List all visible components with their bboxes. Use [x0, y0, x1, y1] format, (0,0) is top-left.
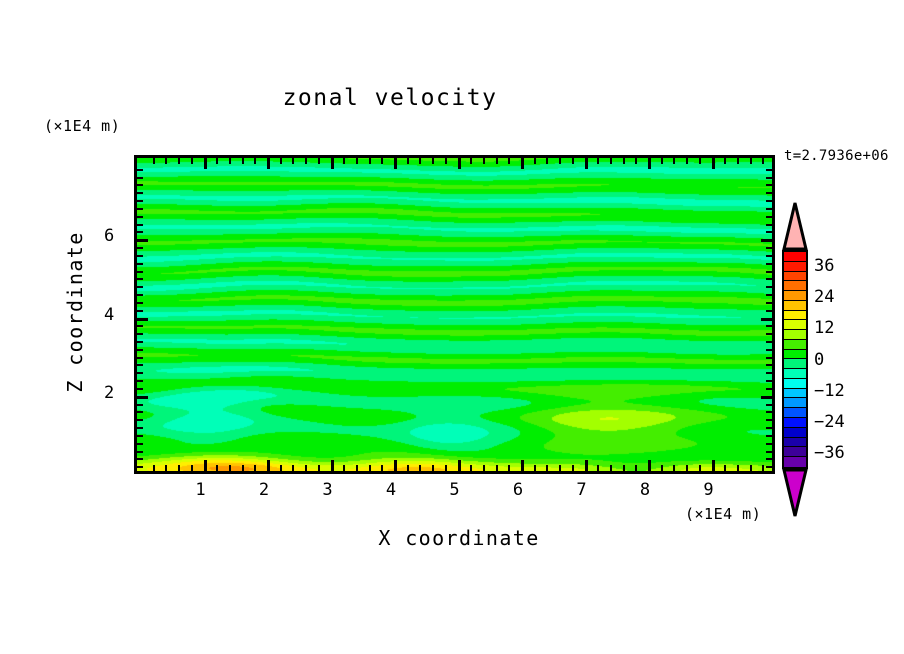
x-minor-tick-top: [508, 158, 510, 164]
colorbar-ticklabel: 24: [814, 287, 834, 307]
colorbar-band: [784, 379, 806, 389]
x-minor-tick-top: [254, 158, 256, 164]
x-minor-tick-top: [750, 158, 752, 164]
x-axis-unit-label: (×1E4 m): [685, 505, 761, 523]
colorbar-band: [784, 320, 806, 330]
y-minor-tick: [137, 364, 143, 366]
x-major-tick-top: [394, 158, 397, 169]
x-ticklabel: 4: [386, 480, 396, 500]
x-major-tick-top: [712, 158, 715, 169]
x-ticklabel: 5: [449, 480, 459, 500]
x-minor-tick-top: [356, 158, 358, 164]
x-minor-tick: [305, 465, 307, 471]
colorbar-band: [784, 389, 806, 399]
x-minor-tick-top: [242, 158, 244, 164]
x-minor-tick: [508, 465, 510, 471]
y-minor-tick: [137, 380, 143, 382]
x-minor-tick-top: [686, 158, 688, 164]
x-minor-tick: [724, 465, 726, 471]
y-minor-tick: [137, 271, 143, 273]
y-minor-tick-right: [766, 325, 772, 327]
colorbar-band: [784, 330, 806, 340]
y-minor-tick-right: [766, 302, 772, 304]
y-minor-tick-right: [766, 388, 772, 390]
y-minor-tick-right: [766, 247, 772, 249]
x-major-tick-top: [267, 158, 270, 169]
x-major-tick-top: [331, 158, 334, 169]
x-minor-tick-top: [673, 158, 675, 164]
y-minor-tick: [137, 302, 143, 304]
y-minor-tick: [137, 404, 143, 406]
y-minor-tick: [137, 247, 143, 249]
x-minor-tick-top: [229, 158, 231, 164]
colorbar-ticklabel: 36: [814, 256, 834, 276]
x-minor-tick: [559, 465, 561, 471]
x-major-tick: [394, 460, 397, 471]
x-minor-tick: [445, 465, 447, 471]
colorbar-band: [784, 262, 806, 272]
x-major-tick: [267, 460, 270, 471]
colorbar-band: [784, 408, 806, 418]
x-minor-tick: [597, 465, 599, 471]
y-minor-tick: [137, 427, 143, 429]
colorbar-ticklabel: −24: [814, 412, 845, 432]
y-minor-tick: [137, 310, 143, 312]
y-minor-tick: [137, 216, 143, 218]
y-minor-tick: [137, 372, 143, 374]
colorbar-band: [784, 301, 806, 311]
x-minor-tick: [432, 465, 434, 471]
y-major-tick: [137, 396, 148, 399]
x-minor-tick: [343, 465, 345, 471]
x-minor-tick: [381, 465, 383, 471]
y-minor-tick: [137, 184, 143, 186]
y-minor-tick-right: [766, 404, 772, 406]
x-major-tick-top: [521, 158, 524, 169]
x-minor-tick: [737, 465, 739, 471]
x-minor-tick-top: [280, 158, 282, 164]
y-minor-tick: [137, 458, 143, 460]
y-minor-tick-right: [766, 231, 772, 233]
y-minor-tick-right: [766, 435, 772, 437]
x-minor-tick: [470, 465, 472, 471]
colorbar-band: [784, 359, 806, 369]
y-minor-tick-right: [766, 169, 772, 171]
x-minor-tick: [673, 465, 675, 471]
x-minor-tick-top: [432, 158, 434, 164]
y-minor-tick: [137, 443, 143, 445]
y-minor-tick-right: [766, 364, 772, 366]
y-minor-tick: [137, 451, 143, 453]
x-minor-tick: [369, 465, 371, 471]
x-minor-tick: [534, 465, 536, 471]
y-minor-tick: [137, 435, 143, 437]
y-minor-tick-right: [766, 427, 772, 429]
x-minor-tick-top: [496, 158, 498, 164]
colorbar-band: [784, 340, 806, 350]
x-minor-tick-top: [191, 158, 193, 164]
y-minor-tick: [137, 231, 143, 233]
y-major-tick: [137, 318, 148, 321]
x-minor-tick: [496, 465, 498, 471]
x-minor-tick-top: [369, 158, 371, 164]
y-minor-tick: [137, 333, 143, 335]
figure-canvas: zonal velocity (×1E4 m) (×1E4 m) X coord…: [0, 0, 904, 654]
y-major-tick-right: [761, 396, 772, 399]
x-minor-tick: [356, 465, 358, 471]
x-minor-tick-top: [597, 158, 599, 164]
x-minor-tick: [610, 465, 612, 471]
x-minor-tick-top: [318, 158, 320, 164]
colorbar-band: [784, 418, 806, 428]
colorbar-band: [784, 447, 806, 457]
x-minor-tick: [699, 465, 701, 471]
y-minor-tick-right: [766, 255, 772, 257]
y-minor-tick-right: [766, 271, 772, 273]
y-minor-tick-right: [766, 419, 772, 421]
y-minor-tick: [137, 169, 143, 171]
x-minor-tick: [572, 465, 574, 471]
y-minor-tick-right: [766, 294, 772, 296]
y-minor-tick-right: [766, 200, 772, 202]
x-minor-tick-top: [483, 158, 485, 164]
x-major-tick-top: [458, 158, 461, 169]
x-major-tick-top: [648, 158, 651, 169]
y-minor-tick-right: [766, 263, 772, 265]
y-minor-tick-right: [766, 310, 772, 312]
x-minor-tick-top: [470, 158, 472, 164]
y-minor-tick-right: [766, 286, 772, 288]
y-minor-tick: [137, 278, 143, 280]
y-minor-tick-right: [766, 380, 772, 382]
x-minor-tick-top: [635, 158, 637, 164]
colorbar-band: [784, 428, 806, 438]
y-minor-tick: [137, 200, 143, 202]
x-minor-tick-top: [699, 158, 701, 164]
y-minor-tick-right: [766, 466, 772, 468]
contour-field: [137, 158, 772, 471]
y-minor-tick: [137, 349, 143, 351]
x-ticklabel: 8: [640, 480, 650, 500]
colorbar-ticklabel: −12: [814, 381, 845, 401]
x-minor-tick-top: [407, 158, 409, 164]
colorbar-band: [784, 350, 806, 360]
y-ticklabel: 6: [104, 226, 114, 246]
y-minor-tick: [137, 294, 143, 296]
timestamp-annotation: t=2.7936e+06: [784, 148, 889, 164]
x-minor-tick-top: [445, 158, 447, 164]
colorbar-band: [784, 438, 806, 448]
contour-plot-area: [134, 155, 775, 474]
x-minor-tick: [686, 465, 688, 471]
colorbar-ticklabel: 0: [814, 350, 824, 370]
x-minor-tick-top: [762, 158, 764, 164]
y-minor-tick-right: [766, 458, 772, 460]
y-minor-tick-right: [766, 451, 772, 453]
x-minor-tick: [216, 465, 218, 471]
colorbar-band: [784, 311, 806, 321]
y-minor-tick-right: [766, 177, 772, 179]
colorbar-band: [784, 291, 806, 301]
x-minor-tick: [419, 465, 421, 471]
x-major-tick-top: [204, 158, 207, 169]
x-minor-tick: [750, 465, 752, 471]
colorbar-band: [784, 272, 806, 282]
x-major-tick: [521, 460, 524, 471]
colorbar-band: [784, 252, 806, 262]
y-minor-tick: [137, 177, 143, 179]
x-minor-tick: [762, 465, 764, 471]
x-minor-tick-top: [737, 158, 739, 164]
x-minor-tick-top: [559, 158, 561, 164]
y-ticklabel: 4: [104, 305, 114, 325]
y-axis-title: Z coordinate: [63, 222, 87, 402]
x-minor-tick: [407, 465, 409, 471]
colorbar-ticklabel: 12: [814, 318, 834, 338]
x-minor-tick-top: [165, 158, 167, 164]
x-minor-tick: [635, 465, 637, 471]
colorbar-band: [784, 398, 806, 408]
y-minor-tick-right: [766, 216, 772, 218]
x-ticklabel: 7: [576, 480, 586, 500]
y-minor-tick: [137, 325, 143, 327]
y-ticklabel: 2: [104, 383, 114, 403]
x-major-tick: [712, 460, 715, 471]
y-minor-tick-right: [766, 341, 772, 343]
y-minor-tick-right: [766, 349, 772, 351]
x-minor-tick: [242, 465, 244, 471]
x-axis-title: X coordinate: [334, 526, 584, 550]
x-minor-tick: [623, 465, 625, 471]
x-minor-tick-top: [381, 158, 383, 164]
x-minor-tick-top: [216, 158, 218, 164]
x-minor-tick: [661, 465, 663, 471]
x-minor-tick-top: [546, 158, 548, 164]
y-minor-tick: [137, 286, 143, 288]
x-minor-tick: [483, 465, 485, 471]
y-minor-tick: [137, 192, 143, 194]
y-minor-tick: [137, 411, 143, 413]
y-minor-tick-right: [766, 372, 772, 374]
x-ticklabel: 1: [195, 480, 205, 500]
y-minor-tick-right: [766, 278, 772, 280]
y-minor-tick: [137, 357, 143, 359]
y-minor-tick: [137, 263, 143, 265]
y-minor-tick-right: [766, 357, 772, 359]
y-major-tick: [137, 239, 148, 242]
x-minor-tick: [292, 465, 294, 471]
y-minor-tick-right: [766, 192, 772, 194]
colorbar-band: [784, 281, 806, 291]
colorbar-bands: [782, 250, 808, 469]
x-major-tick: [204, 460, 207, 471]
x-minor-tick-top: [419, 158, 421, 164]
y-minor-tick-right: [766, 208, 772, 210]
x-minor-tick: [178, 465, 180, 471]
x-ticklabel: 9: [703, 480, 713, 500]
x-minor-tick: [165, 465, 167, 471]
colorbar[interactable]: [782, 202, 808, 517]
x-minor-tick-top: [623, 158, 625, 164]
x-major-tick: [585, 460, 588, 471]
x-minor-tick: [229, 465, 231, 471]
x-minor-tick-top: [572, 158, 574, 164]
x-minor-tick-top: [292, 158, 294, 164]
y-minor-tick: [137, 419, 143, 421]
colorbar-under-arrow-icon: [782, 468, 808, 518]
y-major-tick-right: [761, 318, 772, 321]
x-minor-tick: [280, 465, 282, 471]
y-minor-tick: [137, 224, 143, 226]
y-axis-unit-label: (×1E4 m): [44, 117, 120, 135]
x-minor-tick: [546, 465, 548, 471]
y-minor-tick: [137, 341, 143, 343]
colorbar-over-arrow-icon: [782, 201, 808, 251]
y-minor-tick: [137, 208, 143, 210]
y-minor-tick-right: [766, 333, 772, 335]
x-minor-tick-top: [178, 158, 180, 164]
x-major-tick: [458, 460, 461, 471]
x-major-tick: [331, 460, 334, 471]
x-ticklabel: 6: [513, 480, 523, 500]
y-minor-tick: [137, 255, 143, 257]
x-minor-tick: [254, 465, 256, 471]
x-ticklabel: 3: [322, 480, 332, 500]
x-minor-tick-top: [153, 158, 155, 164]
x-minor-tick: [191, 465, 193, 471]
colorbar-ticklabel: −36: [814, 443, 845, 463]
x-major-tick: [648, 460, 651, 471]
x-minor-tick: [153, 465, 155, 471]
x-minor-tick-top: [661, 158, 663, 164]
y-minor-tick-right: [766, 224, 772, 226]
x-minor-tick-top: [610, 158, 612, 164]
y-minor-tick-right: [766, 411, 772, 413]
x-minor-tick: [318, 465, 320, 471]
colorbar-band: [784, 457, 806, 467]
y-minor-tick: [137, 388, 143, 390]
x-minor-tick-top: [305, 158, 307, 164]
y-major-tick-right: [761, 239, 772, 242]
x-major-tick-top: [585, 158, 588, 169]
x-minor-tick-top: [724, 158, 726, 164]
x-minor-tick-top: [343, 158, 345, 164]
y-minor-tick-right: [766, 443, 772, 445]
y-minor-tick: [137, 466, 143, 468]
x-minor-tick-top: [534, 158, 536, 164]
y-minor-tick-right: [766, 184, 772, 186]
colorbar-band: [784, 369, 806, 379]
page-title: zonal velocity: [0, 85, 780, 111]
x-ticklabel: 2: [259, 480, 269, 500]
